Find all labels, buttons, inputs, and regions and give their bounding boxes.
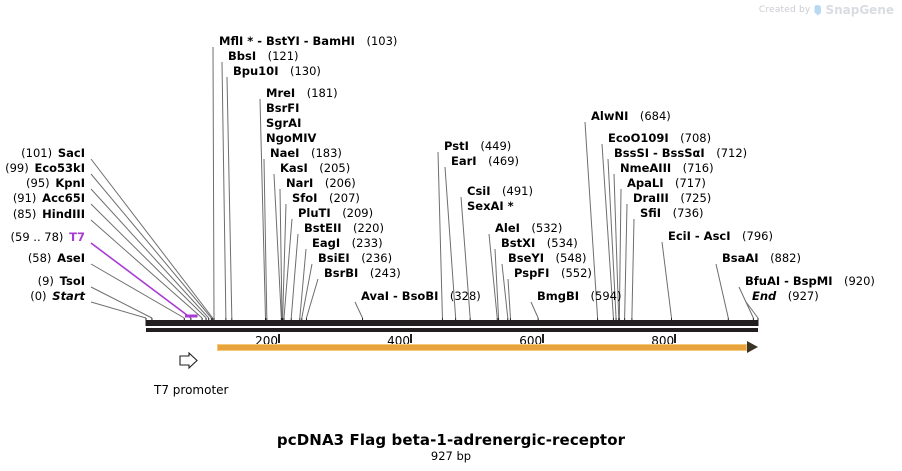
leader-line xyxy=(91,174,211,318)
enzyme-name: BsrFI xyxy=(266,101,299,115)
enzyme-name: NarI xyxy=(286,176,313,190)
enzyme-name: EarI xyxy=(451,154,477,168)
leader-line xyxy=(222,62,226,318)
enzyme-position: (882) xyxy=(770,251,801,265)
enzyme-position: (103) xyxy=(366,34,397,48)
enzyme-position: (220) xyxy=(353,221,384,235)
enzyme-site-label: ApaLI (717) xyxy=(627,177,706,190)
enzyme-site-label: BbsI (121) xyxy=(228,50,299,63)
ruler-bar xyxy=(146,320,758,326)
snapgene-logo-icon xyxy=(814,5,821,16)
leader-line xyxy=(283,204,286,318)
enzyme-site-label: NarI (206) xyxy=(286,177,356,190)
enzyme-position: (91) xyxy=(13,191,37,205)
enzyme-name: BseYI xyxy=(508,251,544,265)
enzyme-name: TsoI xyxy=(60,274,85,288)
leader-line xyxy=(306,279,318,318)
enzyme-position: (712) xyxy=(716,146,747,160)
leader-line xyxy=(495,249,499,318)
leader-line xyxy=(213,47,214,318)
enzyme-site-label: PluTI (209) xyxy=(298,207,373,220)
enzyme-site-label: PstI (449) xyxy=(444,140,511,153)
enzyme-site-label: EcoO109I (708) xyxy=(608,132,711,145)
enzyme-position: (0) xyxy=(30,289,46,303)
leader-line xyxy=(227,77,232,318)
enzyme-position: (233) xyxy=(352,236,383,250)
snapgene-watermark: Created by SnapGene xyxy=(759,3,894,17)
enzyme-position: (121) xyxy=(268,49,299,63)
enzyme-site-label: EarI (469) xyxy=(451,155,519,168)
enzyme-site-label: MreI (181) xyxy=(266,87,338,100)
leader-line xyxy=(91,159,213,318)
leader-line xyxy=(91,243,191,318)
enzyme-site-label: (95) KpnI xyxy=(0,177,85,190)
enzyme-position: (532) xyxy=(531,221,562,235)
enzyme-site-label: BsaAI (882) xyxy=(722,252,801,265)
enzyme-site-label: (91) Acc65I xyxy=(0,192,85,205)
feature-arrow-body xyxy=(217,344,747,351)
enzyme-name: MflI * - BstYI - BamHI xyxy=(219,34,355,48)
enzyme-name: BfuAI - BspMI xyxy=(745,274,832,288)
enzyme-name: BsiEI xyxy=(318,251,350,265)
enzyme-name: BsaAI xyxy=(722,251,759,265)
enzyme-name: AseI xyxy=(57,251,85,265)
enzyme-position: (920) xyxy=(844,274,875,288)
enzyme-name: Eco53kI xyxy=(34,161,85,175)
enzyme-position: (236) xyxy=(361,251,392,265)
enzyme-site-label: CsiI (491) xyxy=(467,185,533,198)
enzyme-name: End xyxy=(752,289,776,303)
watermark-prefix: Created by xyxy=(759,5,811,15)
enzyme-position: (183) xyxy=(311,146,342,160)
leader-line xyxy=(274,174,281,318)
enzyme-name: DraIII xyxy=(633,191,669,205)
ruler-tick-mark xyxy=(410,334,412,343)
promoter-arrow-icon xyxy=(176,352,200,382)
leader-line xyxy=(531,302,538,318)
enzyme-site-label: BmgBI (594) xyxy=(537,290,621,303)
enzyme-name: BstXI xyxy=(501,236,535,250)
enzyme-site-label: AvaI - BsoBI (328) xyxy=(361,290,481,303)
enzyme-site-label: (58) AseI xyxy=(0,252,85,265)
enzyme-site-label: BstXI (534) xyxy=(501,237,578,250)
enzyme-site-label: (9) TsoI xyxy=(0,275,85,288)
leader-line xyxy=(291,234,298,318)
enzyme-name: Start xyxy=(52,289,85,303)
enzyme-name: AleI xyxy=(495,221,520,235)
leader-line xyxy=(625,204,627,318)
page-title: pcDNA3 Flag beta-1-adrenergic-receptor xyxy=(0,431,902,449)
leader-line xyxy=(280,189,282,318)
enzyme-position: (205) xyxy=(319,161,350,175)
feature-arrow-head xyxy=(747,341,758,353)
enzyme-site-label: Bpu10I (130) xyxy=(233,65,321,78)
enzyme-position: (99) xyxy=(5,161,29,175)
leader-line xyxy=(264,159,267,318)
enzyme-position: (708) xyxy=(680,131,711,145)
enzyme-site-label: MflI * - BstYI - BamHI (103) xyxy=(219,35,397,48)
plasmid-length: 927 bp xyxy=(0,449,902,463)
enzyme-name: SfiI xyxy=(640,206,661,220)
enzyme-name: PstI xyxy=(444,139,469,153)
enzyme-site-label: AlwNI (684) xyxy=(591,110,671,123)
enzyme-name: HindIII xyxy=(42,207,85,221)
enzyme-site-label: (0) Start xyxy=(0,290,85,303)
leader-line xyxy=(632,219,634,318)
leader-line xyxy=(91,220,202,318)
leader-line xyxy=(502,264,508,318)
enzyme-site-label: End (927) xyxy=(752,290,819,303)
enzyme-name: EciI - AscI xyxy=(668,229,731,243)
leader-line xyxy=(662,242,672,318)
enzyme-position: (243) xyxy=(370,266,401,280)
enzyme-position: (58) xyxy=(28,251,52,265)
leader-line xyxy=(91,302,146,318)
enzyme-position: (328) xyxy=(450,289,481,303)
enzyme-position: (207) xyxy=(329,191,360,205)
enzyme-name: BstEII xyxy=(304,221,342,235)
enzyme-position: (206) xyxy=(325,176,356,190)
enzyme-position: (469) xyxy=(488,154,519,168)
enzyme-name: NgoMIV xyxy=(266,131,316,145)
enzyme-position: (594) xyxy=(591,289,622,303)
enzyme-site-label: KasI (205) xyxy=(280,162,350,175)
leader-line xyxy=(355,302,363,318)
enzyme-name: AlwNI xyxy=(591,109,628,123)
enzyme-name: AvaI - BsoBI xyxy=(361,289,438,303)
enzyme-position: (209) xyxy=(342,206,373,220)
enzyme-position: (796) xyxy=(742,229,773,243)
enzyme-position: (725) xyxy=(680,191,711,205)
enzyme-name: NaeI xyxy=(270,146,299,160)
enzyme-name: NmeAIII xyxy=(620,161,671,175)
enzyme-name: PspFI xyxy=(514,266,549,280)
enzyme-name: EcoO109I xyxy=(608,131,669,145)
enzyme-site-label: EciI - AscI (796) xyxy=(668,230,773,243)
enzyme-name: SexAI * xyxy=(467,199,514,213)
enzyme-name: SfoI xyxy=(292,191,317,205)
enzyme-site-label: PspFI (552) xyxy=(514,267,592,280)
leader-line xyxy=(91,287,152,318)
enzyme-name: ApaLI xyxy=(627,176,664,190)
enzyme-position: (716) xyxy=(683,161,714,175)
ruler-tick-mark xyxy=(278,334,280,343)
enzyme-position: (85) xyxy=(13,207,37,221)
leader-line xyxy=(91,189,209,318)
leader-line xyxy=(300,249,306,318)
enzyme-position: (736) xyxy=(673,206,704,220)
leader-line xyxy=(284,219,292,318)
enzyme-position: (491) xyxy=(502,184,533,198)
enzyme-site-label: AleI (532) xyxy=(495,222,562,235)
enzyme-site-label: SfoI (207) xyxy=(292,192,360,205)
enzyme-position: (717) xyxy=(675,176,706,190)
enzyme-site-label: BseYI (548) xyxy=(508,252,586,265)
enzyme-name: MreI xyxy=(266,86,295,100)
ruler-bar-lower xyxy=(146,328,758,332)
leader-line xyxy=(716,264,728,318)
enzyme-site-label: BssSI - BssSαI (712) xyxy=(614,147,747,160)
enzyme-name: KasI xyxy=(280,161,308,175)
enzyme-site-label: SgrAI xyxy=(266,117,301,130)
leader-line xyxy=(91,264,184,318)
enzyme-site-label: NgoMIV xyxy=(266,132,316,145)
watermark-brand: SnapGene xyxy=(825,3,894,17)
enzyme-name: BsrBI xyxy=(324,266,358,280)
enzyme-position: (130) xyxy=(290,64,321,78)
enzyme-site-label: BsrFI xyxy=(266,102,299,115)
t7-promoter-marker xyxy=(176,352,200,386)
enzyme-name: Acc65I xyxy=(42,191,85,205)
enzyme-site-label: SfiI (736) xyxy=(640,207,704,220)
enzyme-site-label: (99) Eco53kI xyxy=(0,162,85,175)
enzyme-position: (449) xyxy=(480,139,511,153)
enzyme-name: PluTI xyxy=(298,206,331,220)
enzyme-position: (684) xyxy=(640,109,671,123)
ruler-tick-mark xyxy=(674,334,676,343)
enzyme-name: Bpu10I xyxy=(233,64,278,78)
leader-line xyxy=(508,279,510,318)
enzyme-position: (927) xyxy=(788,289,819,303)
t7-promoter-label: T7 promoter xyxy=(154,383,228,397)
enzyme-position: (534) xyxy=(547,236,578,250)
enzyme-site-label: (101) SacI xyxy=(0,147,85,160)
enzyme-name: T7 xyxy=(69,230,85,244)
enzyme-site-label: (59 .. 78) T7 xyxy=(0,231,85,244)
enzyme-site-label: BsrBI (243) xyxy=(324,267,401,280)
enzyme-site-label: NaeI (183) xyxy=(270,147,342,160)
enzyme-site-label: BstEII (220) xyxy=(304,222,384,235)
enzyme-site-label: (85) HindIII xyxy=(0,208,85,221)
enzyme-position: (101) xyxy=(21,146,52,160)
enzyme-name: BmgBI xyxy=(537,289,579,303)
enzyme-site-label: BfuAI - BspMI (920) xyxy=(745,275,875,288)
enzyme-site-label: DraIII (725) xyxy=(633,192,711,205)
enzyme-position: (95) xyxy=(26,176,50,190)
enzyme-name: EagI xyxy=(312,236,340,250)
enzyme-position: (9) xyxy=(38,274,54,288)
enzyme-site-label: BsiEI (236) xyxy=(318,252,392,265)
enzyme-name: BssSI - BssSαI xyxy=(614,146,705,160)
enzyme-name: SgrAI xyxy=(266,116,301,130)
leader-line xyxy=(91,204,206,318)
enzyme-site-label: EagI (233) xyxy=(312,237,383,250)
enzyme-name: BbsI xyxy=(228,49,256,63)
enzyme-position: (548) xyxy=(556,251,587,265)
enzyme-position: (552) xyxy=(561,266,592,280)
leader-line xyxy=(746,302,758,318)
ruler-tick-mark xyxy=(542,334,544,343)
enzyme-name: KpnI xyxy=(55,176,85,190)
enzyme-position: (59 .. 78) xyxy=(11,230,64,244)
enzyme-site-label: SexAI * xyxy=(467,200,514,213)
enzyme-name: CsiI xyxy=(467,184,491,198)
enzyme-position: (181) xyxy=(307,86,338,100)
enzyme-site-label: NmeAIII (716) xyxy=(620,162,714,175)
plasmid-map: Created by SnapGene (0) Start(9) TsoI(58… xyxy=(0,0,902,471)
leader-line xyxy=(489,234,497,318)
leader-line xyxy=(260,99,265,318)
enzyme-name: SacI xyxy=(58,146,85,160)
leader-line xyxy=(302,264,312,318)
